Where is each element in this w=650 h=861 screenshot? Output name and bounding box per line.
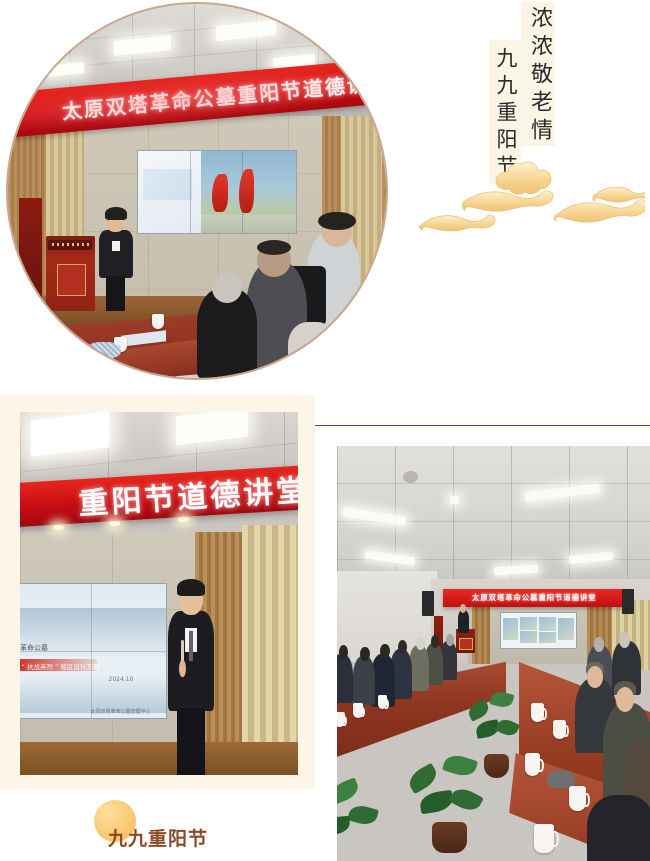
plant-leaf — [347, 803, 378, 828]
audience-member — [288, 322, 337, 378]
down-light — [53, 525, 64, 530]
speaker-tie — [189, 631, 193, 661]
podium — [46, 236, 95, 311]
tea-cup — [531, 703, 544, 721]
loudspeaker-icon — [622, 589, 635, 614]
monument-sculpture — [212, 174, 227, 212]
slide-thumbnail — [539, 632, 556, 643]
slide-line-2: “ 抗战英烈 ” 陵区设计方案 — [21, 661, 99, 671]
vertical-title-respect-elders: 浓浓敬老情 — [521, 2, 555, 146]
speaker-hand — [179, 660, 186, 677]
conference-room-wide-photo: 太原双塔革命公墓重阳节道德讲堂 — [337, 446, 650, 861]
slide-photo — [201, 151, 296, 233]
plant-leaf — [494, 716, 519, 738]
curtain — [242, 525, 298, 750]
plant-leaf — [490, 690, 515, 710]
speaker-hair — [177, 579, 205, 596]
audience-member — [587, 795, 650, 861]
auspicious-cloud-icon — [410, 158, 645, 238]
tea-cup — [553, 720, 566, 739]
banner-text: 太原双塔革命公墓重阳节道德讲堂 — [472, 592, 597, 603]
audience-member — [337, 654, 353, 704]
audience-head — [339, 645, 348, 659]
plant-leaf — [419, 790, 455, 815]
slide-thumbnail — [503, 618, 518, 641]
tea-cup — [569, 786, 587, 811]
tea-cup — [353, 703, 363, 718]
speaker-legs — [177, 708, 205, 775]
speaker-person — [167, 583, 214, 775]
down-light — [109, 521, 120, 526]
framed-speaker-photo: 革命公墓 “ 抗战英烈 ” 陵区设计方案 2024.10 太原双塔革命公墓管理中… — [20, 412, 298, 775]
audience-member — [409, 645, 429, 691]
potted-plant — [337, 770, 393, 861]
presentation-screen — [137, 150, 298, 234]
speaker-person — [99, 210, 133, 311]
plant-leaf — [449, 784, 484, 815]
circular-event-photo: 太原双塔革命公墓重阳节道德讲堂 — [6, 2, 388, 380]
tea-cup — [91, 356, 105, 373]
slide-date: 2024.10 — [109, 676, 134, 683]
slide-thumbnail — [520, 617, 537, 630]
slide-ground — [201, 215, 296, 233]
audience-member — [353, 656, 375, 706]
screen-seam — [190, 151, 191, 233]
audience-hair — [257, 240, 291, 255]
ceiling-light — [450, 496, 459, 504]
plant-leaf — [337, 778, 361, 805]
presentation-screen — [500, 612, 577, 649]
speaker-suit — [99, 230, 133, 278]
audience-head — [416, 637, 425, 650]
podium-emblem — [57, 264, 87, 296]
tea-cup — [525, 753, 541, 775]
speaker-hair — [105, 207, 127, 220]
tea-cup — [337, 712, 345, 728]
speaker-person — [458, 610, 469, 633]
slide-footer: 太原双塔革命公墓管理中心 — [91, 708, 151, 715]
circular-photo-content: 太原双塔革命公墓重阳节道德讲堂 — [8, 4, 386, 378]
audience-hair — [318, 212, 356, 231]
slide-left-half — [138, 151, 202, 233]
potted-plant — [406, 745, 494, 853]
plant-leaf — [466, 699, 491, 721]
speaker-legs — [106, 276, 125, 310]
floor — [20, 742, 298, 775]
audience-head — [587, 666, 603, 688]
tea-cup — [378, 695, 387, 709]
framed-speaker-photo-frame: 革命公墓 “ 抗战英烈 ” 陵区设计方案 2024.10 太原双塔革命公墓管理中… — [0, 395, 315, 789]
down-light — [178, 517, 189, 522]
plant-leaf — [442, 751, 478, 779]
slide-thumbnail — [520, 631, 537, 643]
red-banner: 太原双塔革命公墓重阳节道德讲堂 — [443, 589, 625, 606]
slide-thumbnail — [539, 617, 556, 630]
caption-double-ninth-festival: 九九重阳节 — [108, 824, 208, 851]
audience-head — [380, 644, 390, 659]
audience-head — [431, 635, 439, 647]
screen-seam — [242, 151, 243, 233]
screen-seam — [20, 651, 166, 652]
speaker-shirt — [112, 241, 120, 252]
side-door — [19, 198, 42, 299]
loudspeaker-icon — [422, 591, 435, 616]
audience-head — [446, 634, 454, 646]
audience-head — [619, 632, 630, 648]
slide-diagram — [143, 169, 193, 200]
slide-thumbnail — [558, 618, 574, 640]
podium-nameplate — [48, 240, 92, 250]
plant-pot — [432, 822, 467, 852]
speaker-suit — [168, 611, 213, 711]
audience-head — [594, 637, 605, 652]
plant-leaf — [405, 762, 440, 794]
presentation-screen: 革命公墓 “ 抗战英烈 ” 陵区设计方案 2024.10 太原双塔革命公墓管理中… — [20, 583, 167, 719]
poster-page: 太原双塔革命公墓重阳节道德讲堂 — [0, 0, 650, 861]
tea-cup — [534, 824, 554, 853]
plant-leaf — [337, 816, 351, 836]
